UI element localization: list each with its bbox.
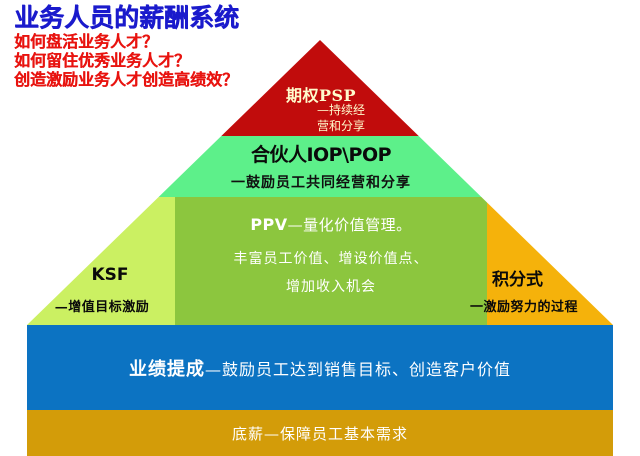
base-salary-title: 底薪: [232, 425, 264, 443]
pyramid-band-ksf[interactable]: [0, 197, 175, 327]
subtitle-line-3: 创造激励业务人才创造高绩效？: [14, 70, 344, 89]
subtitle-line-1: 如何盘活业务人才？: [14, 32, 344, 51]
base-salary-description: —保障员工基本需求: [264, 425, 408, 443]
subtitle-line-2: 如何留住优秀业务人才？: [14, 51, 344, 70]
performance-commission-description: —鼓励员工达到销售目标、创造客户价值: [205, 360, 511, 379]
performance-commission-text: 业绩提成—鼓励员工达到销售目标、创造客户价值: [129, 355, 511, 381]
bar-base-salary[interactable]: 底薪—保障员工基本需求: [27, 410, 613, 456]
slide-canvas: 业务人员的薪酬系统 如何盘活业务人才？ 如何留住优秀业务人才？ 创造激励业务人才…: [0, 0, 640, 456]
bar-performance-commission[interactable]: 业绩提成—鼓励员工达到销售目标、创造客户价值: [27, 325, 613, 410]
page-title: 业务人员的薪酬系统: [14, 4, 344, 32]
base-salary-text: 底薪—保障员工基本需求: [232, 423, 408, 444]
title-block: 业务人员的薪酬系统 如何盘活业务人才？ 如何留住优秀业务人才？ 创造激励业务人才…: [14, 4, 344, 89]
pyramid-band-iop-pop[interactable]: [0, 136, 640, 197]
pyramid-band-ppv[interactable]: [175, 197, 487, 327]
performance-commission-title: 业绩提成: [129, 359, 205, 380]
pyramid-band-jifenshi[interactable]: [487, 197, 640, 327]
